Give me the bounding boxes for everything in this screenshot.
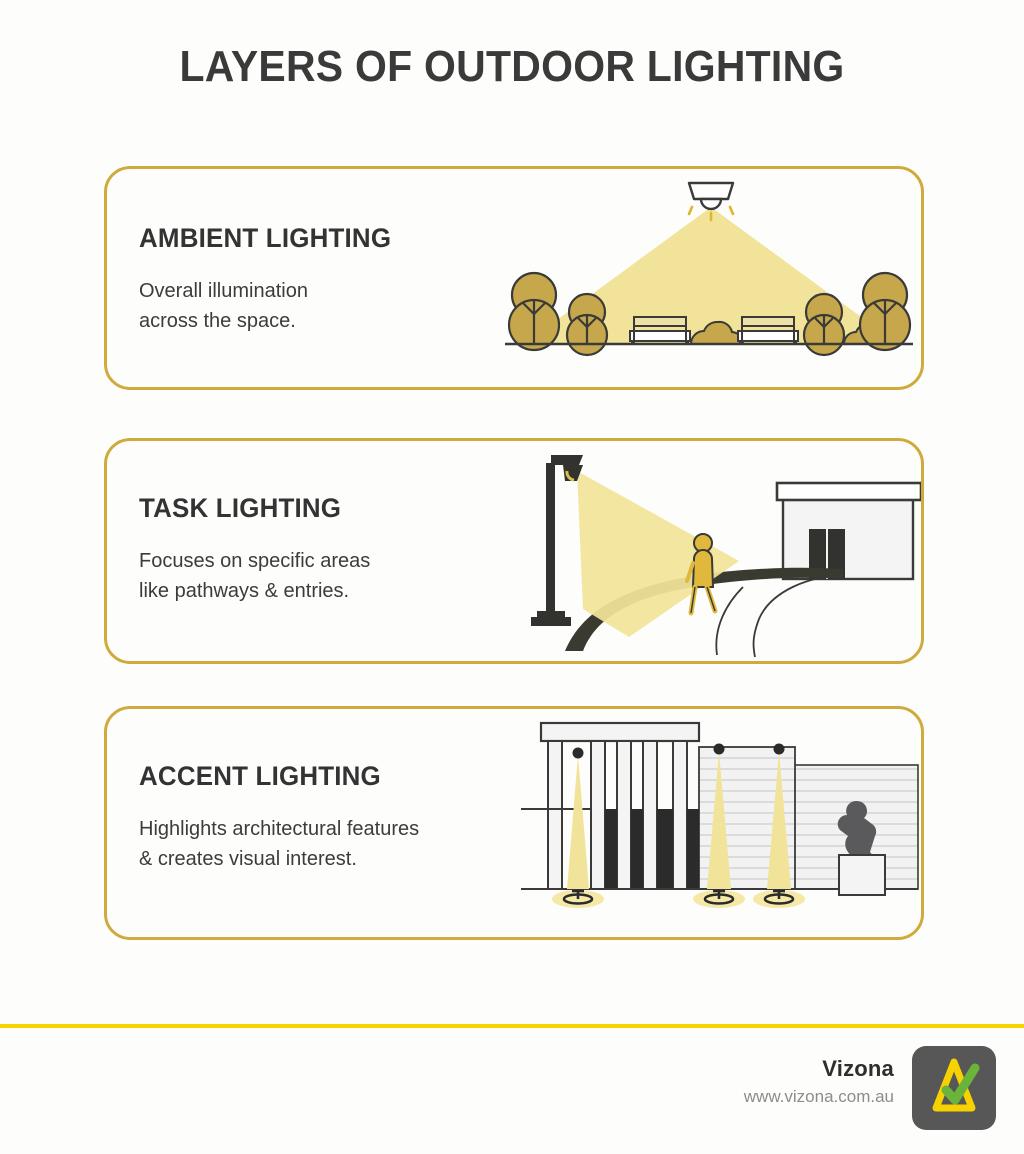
accent-lighting-illustration [521,709,921,937]
ceiling-light-fixture [689,183,733,220]
vizona-logo [912,1046,996,1130]
card-task-lighting: TASK LIGHTING Focuses on specific areas … [104,438,924,664]
task-lighting-illustration [521,441,921,661]
ambient-lighting-illustration [501,169,921,387]
card-ambient-text-block: AMBIENT LIGHTING Overall illumination ac… [139,223,539,337]
tree [509,273,559,350]
card-accent-text-block: ACCENT LIGHTING Highlights architectural… [139,761,539,875]
card-accent-lighting: ACCENT LIGHTING Highlights architectural… [104,706,924,940]
pathway-edge [716,587,743,655]
page-title: LAYERS OF OUTDOOR LIGHTING [36,42,988,92]
brand-website: www.vizona.com.au [744,1087,894,1107]
pathway-edge [754,576,843,657]
park-bench [738,317,798,344]
card-ambient-body: Overall illumination across the space. [139,276,539,337]
infographic-page: LAYERS OF OUTDOOR LIGHTING AMBIENT LIGHT… [0,0,1024,1154]
footer-divider [0,1024,1024,1028]
park-bench [630,317,690,344]
card-task-heading: TASK LIGHTING [139,493,523,524]
building-entry [777,483,921,579]
tree [860,273,910,350]
card-task-text-block: TASK LIGHTING Focuses on specific areas … [139,493,539,607]
card-accent-heading: ACCENT LIGHTING [139,761,523,792]
card-accent-body: Highlights architectural features & crea… [139,814,539,875]
narrow-uplight-cone [567,755,589,889]
tree [804,294,844,355]
brand-name: Vizona [744,1056,894,1082]
card-ambient-heading: AMBIENT LIGHTING [139,223,523,254]
street-lamp-post [531,455,583,626]
tree [567,294,607,355]
card-task-body: Focuses on specific areas like pathways … [139,546,539,607]
card-ambient-lighting: AMBIENT LIGHTING Overall illumination ac… [104,166,924,390]
brand-block: Vizona www.vizona.com.au [744,1056,894,1107]
